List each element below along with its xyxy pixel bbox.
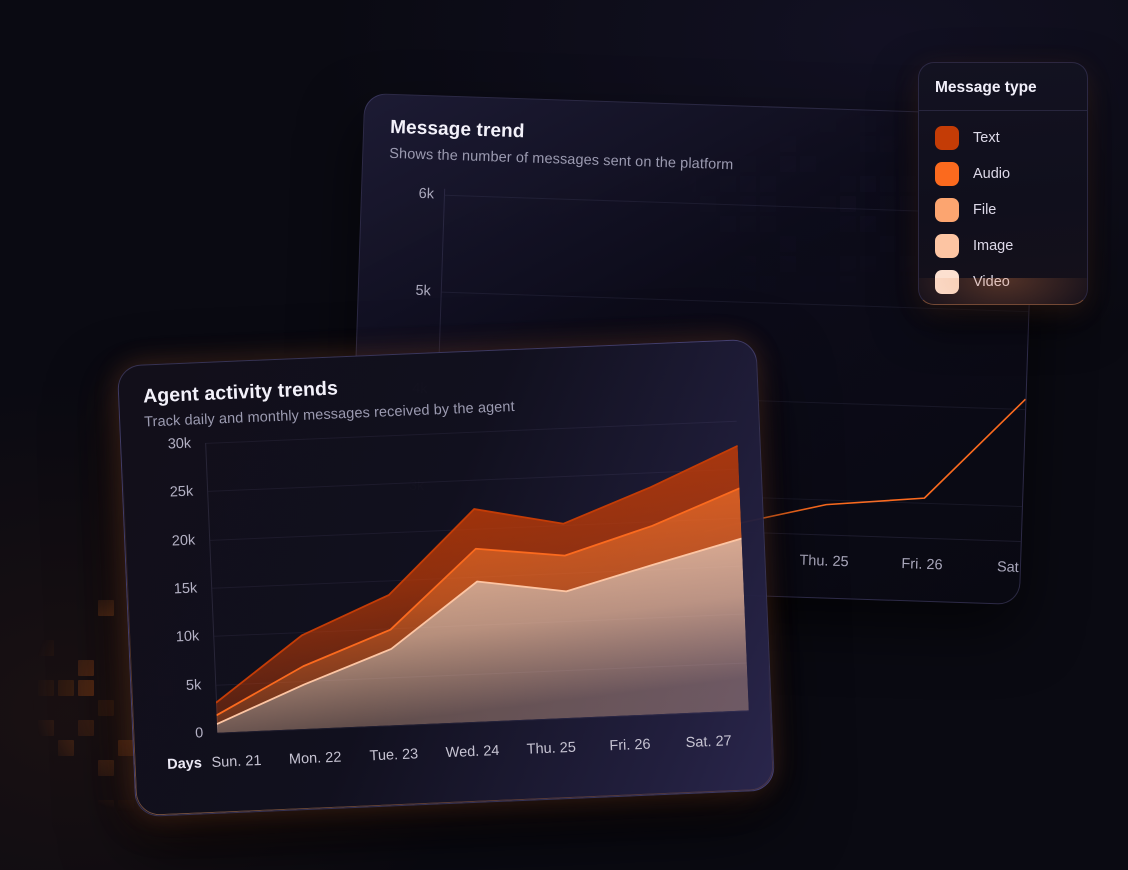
legend-item-image[interactable]: Image	[935, 228, 1087, 264]
y-tick-label: 10k	[176, 629, 200, 646]
legend-swatch-icon	[935, 198, 959, 222]
legend-swatch-icon	[935, 234, 959, 258]
legend-item-label: Text	[973, 130, 1000, 146]
x-tick-label: Tue. 23	[369, 746, 418, 764]
x-tick-label: Mon. 22	[289, 750, 342, 768]
screenshot-stage: Message trend Shows the number of messag…	[0, 0, 1128, 870]
agent-activity-card[interactable]: Agent activity trends Track daily and mo…	[117, 339, 775, 817]
y-tick-label: 5k	[186, 677, 202, 694]
legend-item-label: Video	[973, 274, 1010, 290]
legend-item-label: File	[973, 202, 996, 218]
legend-swatch-icon	[935, 270, 959, 294]
message-type-legend-card[interactable]: Message type TextAudioFileImageVideo	[918, 62, 1088, 305]
x-tick-label: Wed. 24	[445, 743, 499, 761]
y-tick-label: 0	[195, 725, 204, 741]
agent-activity-stacked-area	[205, 421, 749, 733]
x-axis-name: Days	[167, 755, 202, 772]
agent-activity-y-axis: 30k25k20k15k10k5k0	[143, 444, 203, 736]
legend-item-file[interactable]: File	[935, 192, 1087, 228]
y-tick-label: 6k	[418, 186, 434, 202]
x-tick-label: Sat. 27	[685, 733, 732, 751]
legend-swatch-icon	[935, 126, 959, 150]
legend-item-label: Image	[973, 238, 1013, 254]
agent-activity-x-axis: DaysSun. 21Mon. 22Tue. 23Wed. 24Thu. 25F…	[156, 732, 750, 781]
legend-items-list: TextAudioFileImageVideo	[919, 111, 1087, 300]
legend-item-video[interactable]: Video	[935, 264, 1087, 300]
y-tick-label: 25k	[169, 484, 193, 501]
x-tick-label: Thu. 25	[526, 740, 576, 758]
legend-item-audio[interactable]: Audio	[935, 156, 1087, 192]
x-tick-label: Fri. 26	[901, 556, 943, 573]
y-tick-label: 15k	[174, 580, 198, 597]
y-tick-label: 30k	[167, 436, 191, 453]
x-tick-label: Thu. 25	[799, 553, 849, 571]
legend-swatch-icon	[935, 162, 959, 186]
agent-activity-plot: 30k25k20k15k10k5k0 DaysSun. 21Mon. 22Tue…	[143, 421, 752, 816]
x-tick-label: Sat. 27	[997, 559, 1036, 577]
legend-title: Message type	[919, 63, 1087, 111]
legend-item-label: Audio	[973, 166, 1010, 182]
y-tick-label: 20k	[171, 532, 195, 549]
y-tick-label: 5k	[415, 283, 431, 299]
x-tick-label: Fri. 26	[609, 737, 651, 755]
x-tick-label: Sun. 21	[211, 753, 262, 771]
agent-activity-header: Agent activity trends Track daily and mo…	[118, 340, 758, 432]
legend-item-text[interactable]: Text	[935, 120, 1087, 156]
